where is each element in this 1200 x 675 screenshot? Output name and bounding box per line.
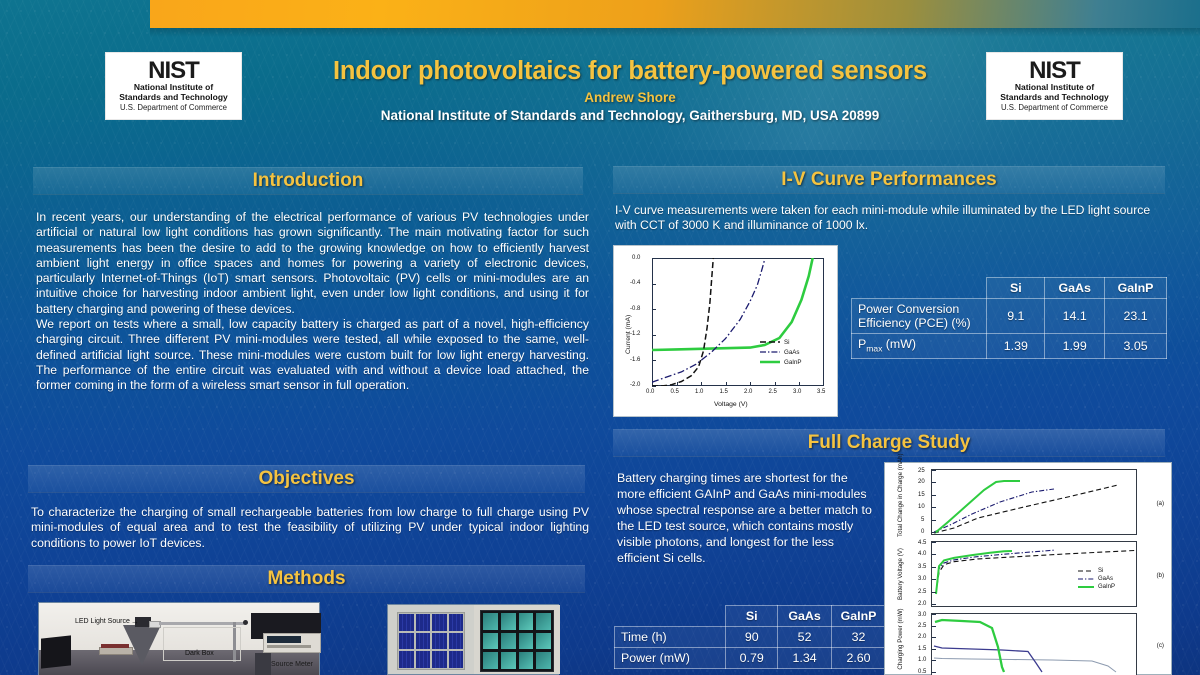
cell-power-gaas: 1.34 [778, 648, 832, 669]
ytick-label: 25 [918, 468, 925, 474]
charge-panel-c-yaxis-title: Charging Power (mW) [897, 599, 904, 675]
table-row: Pmax (mW) 1.39 1.99 3.05 [852, 334, 1167, 359]
legend-label-si: Si [1098, 568, 1103, 574]
nist-line1: National Institute of [1015, 82, 1094, 92]
cell-pce-gainp: 23.1 [1105, 299, 1167, 334]
section-title: Methods [267, 568, 345, 590]
ytick-label: 5 [921, 517, 924, 523]
ytick-label: 0 [921, 529, 924, 535]
methods-photo-minimodules [387, 604, 559, 675]
row-label-power: Power (mW) [615, 648, 726, 669]
xaxis-title: Voltage (V) [714, 401, 748, 408]
xtick-label: 3.5 [817, 389, 825, 395]
page-title: Indoor photovoltaics for battery-powered… [250, 56, 1010, 86]
charge-panel-c: 0.5 1.0 1.5 2.0 2.5 3.0 (c) [931, 613, 1137, 675]
xtick-label: 0.5 [671, 389, 679, 395]
ytick-label: 3.0 [918, 576, 926, 582]
ytick-label: 2.5 [918, 589, 926, 595]
legend-label-gaas: GaAs [784, 349, 799, 356]
ytick-label: 4.0 [918, 551, 926, 557]
ytick-label: 2.0 [918, 601, 926, 607]
pmax-subscript: max [866, 343, 882, 353]
ytick-label: 20 [918, 479, 925, 485]
full-charge-paragraph-1: Battery charging times are shortest for … [617, 470, 875, 566]
table-row: Power (mW) 0.79 1.34 2.60 [615, 648, 886, 669]
iv-curve-series [652, 258, 824, 386]
ytick-label: -1.6 [630, 357, 640, 363]
charge-panel-c-series [932, 614, 1140, 674]
cell-time-gaas: 52 [778, 627, 832, 648]
ytick-label: 0.5 [918, 669, 926, 675]
table-corner-cell [615, 606, 726, 627]
author-name: Andrew Shore [250, 90, 1010, 105]
xtick-label: 3.0 [793, 389, 801, 395]
xtick-label: 2.0 [744, 389, 752, 395]
panel-tag-b: (b) [1156, 572, 1164, 579]
table-col-gainp: GaInP [832, 606, 886, 627]
nist-line1: National Institute of [134, 82, 213, 92]
photo-label-source-meter: Source Meter [271, 661, 313, 668]
top-accent-banner [150, 0, 1200, 28]
table-iv-performance: Si GaAs GaInP Power Conversion Efficienc… [851, 277, 1167, 359]
ytick-label: -2.0 [630, 382, 640, 388]
table-header-row: Si GaAs GaInP [852, 278, 1167, 299]
nist-line3: U.S. Department of Commerce [1001, 103, 1108, 113]
photo-label-led-light-source: LED Light Source [75, 618, 130, 625]
chart-full-charge-study: 0 5 10 15 20 25 (a) Total Change in Char… [884, 462, 1172, 675]
ytick-label: 15 [918, 492, 925, 498]
ytick-label: 3.5 [918, 564, 926, 570]
legend-label-si: Si [784, 339, 790, 346]
charge-panel-a-series [932, 470, 1140, 534]
legend-label-gainp: GaInP [784, 359, 802, 366]
section-title: Objectives [258, 468, 354, 490]
section-title: I-V Curve Performances [781, 169, 996, 191]
row-label-pce: Power Conversion Efficiency (PCE) (%) [852, 299, 987, 334]
charge-legend-lines [1078, 568, 1096, 594]
iv-curve-paragraph-1: I-V curve measurements were taken for ea… [615, 203, 1167, 234]
ytick-label: 0.0 [632, 255, 640, 261]
introduction-paragraph-1: In recent years, our understanding of th… [36, 210, 589, 317]
nist-wordmark: NIST [148, 60, 199, 82]
table-col-gaas: GaAs [1045, 278, 1105, 299]
legend-label-gaas: GaAs [1098, 576, 1113, 582]
arrow-icon: → [131, 617, 139, 626]
table-col-si: Si [726, 606, 778, 627]
cell-pmax-gainp: 3.05 [1105, 334, 1167, 359]
panel-tag-c: (c) [1157, 642, 1164, 649]
ytick-label: 3.0 [918, 612, 926, 618]
panel-tag-a: (a) [1156, 500, 1164, 507]
poster-header: Indoor photovoltaics for battery-powered… [250, 56, 1010, 123]
full-charge-body: Battery charging times are shortest for … [617, 470, 875, 566]
table-charge-summary: Si GaAs GaInP Time (h) 90 52 32 Power (m… [614, 605, 886, 669]
photo-label-dark-box: Dark Box [185, 650, 214, 657]
ytick-label: 10 [918, 504, 925, 510]
nist-line3: U.S. Department of Commerce [120, 103, 227, 113]
table-col-si: Si [987, 278, 1045, 299]
ytick-label: 2.0 [918, 634, 926, 640]
nist-line2: Standards and Technology [119, 92, 227, 102]
section-header-iv-curve: I-V Curve Performances [613, 166, 1165, 194]
cell-power-gainp: 2.60 [832, 648, 886, 669]
nist-logo-left: NIST National Institute of Standards and… [105, 52, 242, 120]
section-title: Introduction [253, 170, 364, 192]
section-header-introduction: Introduction [33, 167, 583, 195]
section-header-full-charge: Full Charge Study [613, 429, 1165, 457]
cell-time-si: 90 [726, 627, 778, 648]
ytick-label: 1.5 [918, 646, 926, 652]
cell-time-gainp: 32 [832, 627, 886, 648]
affiliation: National Institute of Standards and Tech… [250, 108, 1010, 123]
table-row: Time (h) 90 52 32 [615, 627, 886, 648]
charge-panel-a: 0 5 10 15 20 25 (a) [931, 469, 1137, 535]
iv-curve-body: I-V curve measurements were taken for ea… [615, 203, 1167, 234]
row-label-time: Time (h) [615, 627, 726, 648]
table-col-gaas: GaAs [778, 606, 832, 627]
cell-pce-si: 9.1 [987, 299, 1045, 334]
ytick-label: 4.5 [918, 540, 926, 546]
charge-panel-a-yaxis-title: Total Change in Charge (mAh) [897, 467, 904, 537]
nist-line2: Standards and Technology [1000, 92, 1108, 102]
poster-canvas: NIST National Institute of Standards and… [0, 0, 1200, 675]
table-corner-cell [852, 278, 987, 299]
top-accent-banner-shadow [150, 28, 1200, 37]
xtick-label: 0.0 [646, 389, 654, 395]
iv-legend-lines [760, 338, 782, 372]
row-label-pmax: Pmax (mW) [852, 334, 987, 359]
yaxis-title: Current (mA) [625, 315, 632, 354]
ytick-label: -0.4 [630, 280, 640, 286]
methods-photo-setup: LED Light Source → Dark Box Source Meter [38, 602, 320, 675]
section-header-objectives: Objectives [28, 465, 585, 493]
xtick-label: 1.0 [695, 389, 703, 395]
ytick-label: 1.0 [918, 657, 926, 663]
section-header-methods: Methods [28, 565, 585, 593]
cell-power-si: 0.79 [726, 648, 778, 669]
ytick-label: 2.5 [918, 623, 926, 629]
table-header-row: Si GaAs GaInP [615, 606, 886, 627]
chart-iv-curve: 0.0 -0.4 -0.8 -1.2 -1.6 -2.0 0.0 0.5 1.0… [613, 245, 838, 417]
table-row: Power Conversion Efficiency (PCE) (%) 9.… [852, 299, 1167, 334]
xtick-label: 2.5 [769, 389, 777, 395]
nist-wordmark: NIST [1029, 60, 1080, 82]
table-col-gainp: GaInP [1105, 278, 1167, 299]
section-title: Full Charge Study [808, 432, 971, 454]
cell-pmax-si: 1.39 [987, 334, 1045, 359]
charge-panel-b-series [932, 542, 1140, 606]
objectives-body: To characterize the charging of small re… [31, 505, 589, 551]
cell-pce-gaas: 14.1 [1045, 299, 1105, 334]
charge-panel-b: 2.0 2.5 3.0 3.5 4.0 4.5 Si GaAs GaInP (b… [931, 541, 1137, 607]
ytick-label: -0.8 [630, 306, 640, 312]
objectives-paragraph-1: To characterize the charging of small re… [31, 505, 589, 551]
nist-logo-right: NIST National Institute of Standards and… [986, 52, 1123, 120]
introduction-paragraph-2: We report on tests where a small, low ca… [36, 317, 589, 393]
xtick-label: 1.5 [720, 389, 728, 395]
cell-pmax-gaas: 1.99 [1045, 334, 1105, 359]
pmax-unit: (mW) [882, 337, 916, 351]
legend-label-gainp: GaInP [1098, 584, 1115, 590]
introduction-body: In recent years, our understanding of th… [36, 210, 589, 394]
